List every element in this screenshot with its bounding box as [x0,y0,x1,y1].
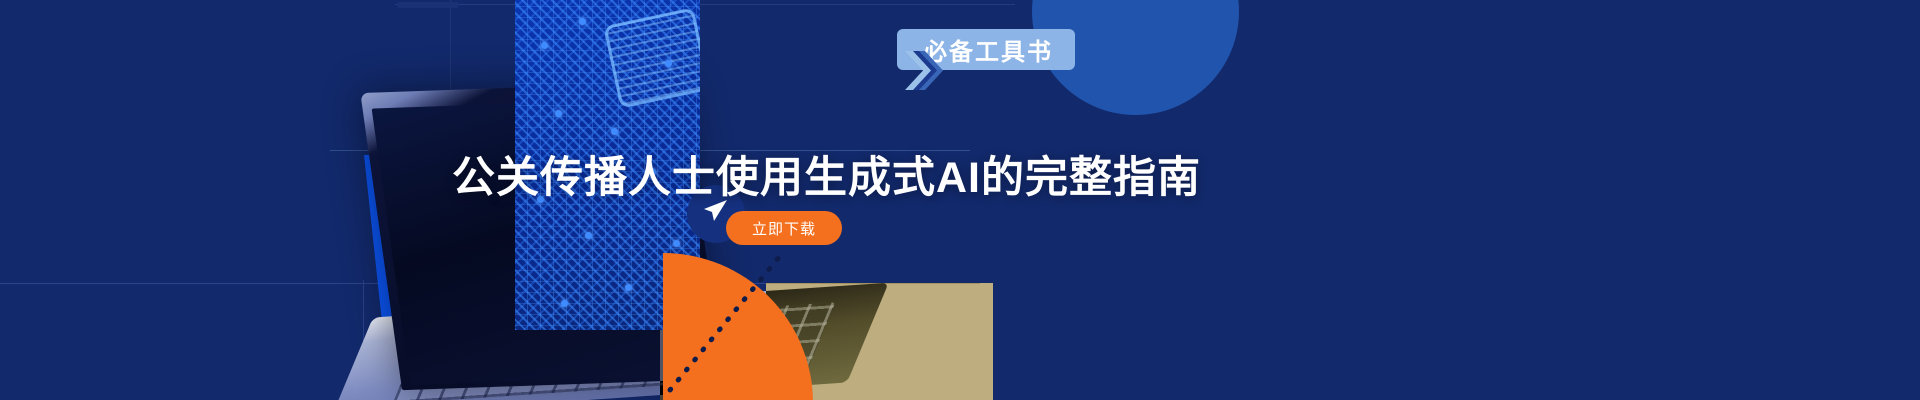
circuit-node [625,284,632,291]
circuit-node [555,110,562,117]
download-button[interactable]: 立即下载 [726,211,842,245]
circuit-node [579,18,586,25]
circuit-node [673,240,680,247]
page-title: 公关传播人士使用生成式AI的完整指南 [452,143,1201,205]
circuit-node [665,60,672,67]
circuit-node [611,128,618,135]
circuit-chip-icon [603,7,700,108]
circuit-node [585,232,592,239]
promo-banner: 必备工具书 公关传播人士使用生成式AI的完整指南 立即下载 [0,0,1920,400]
badge: 必备工具书 [913,29,1075,70]
circuit-node [561,300,568,307]
circuit-node [541,42,548,49]
